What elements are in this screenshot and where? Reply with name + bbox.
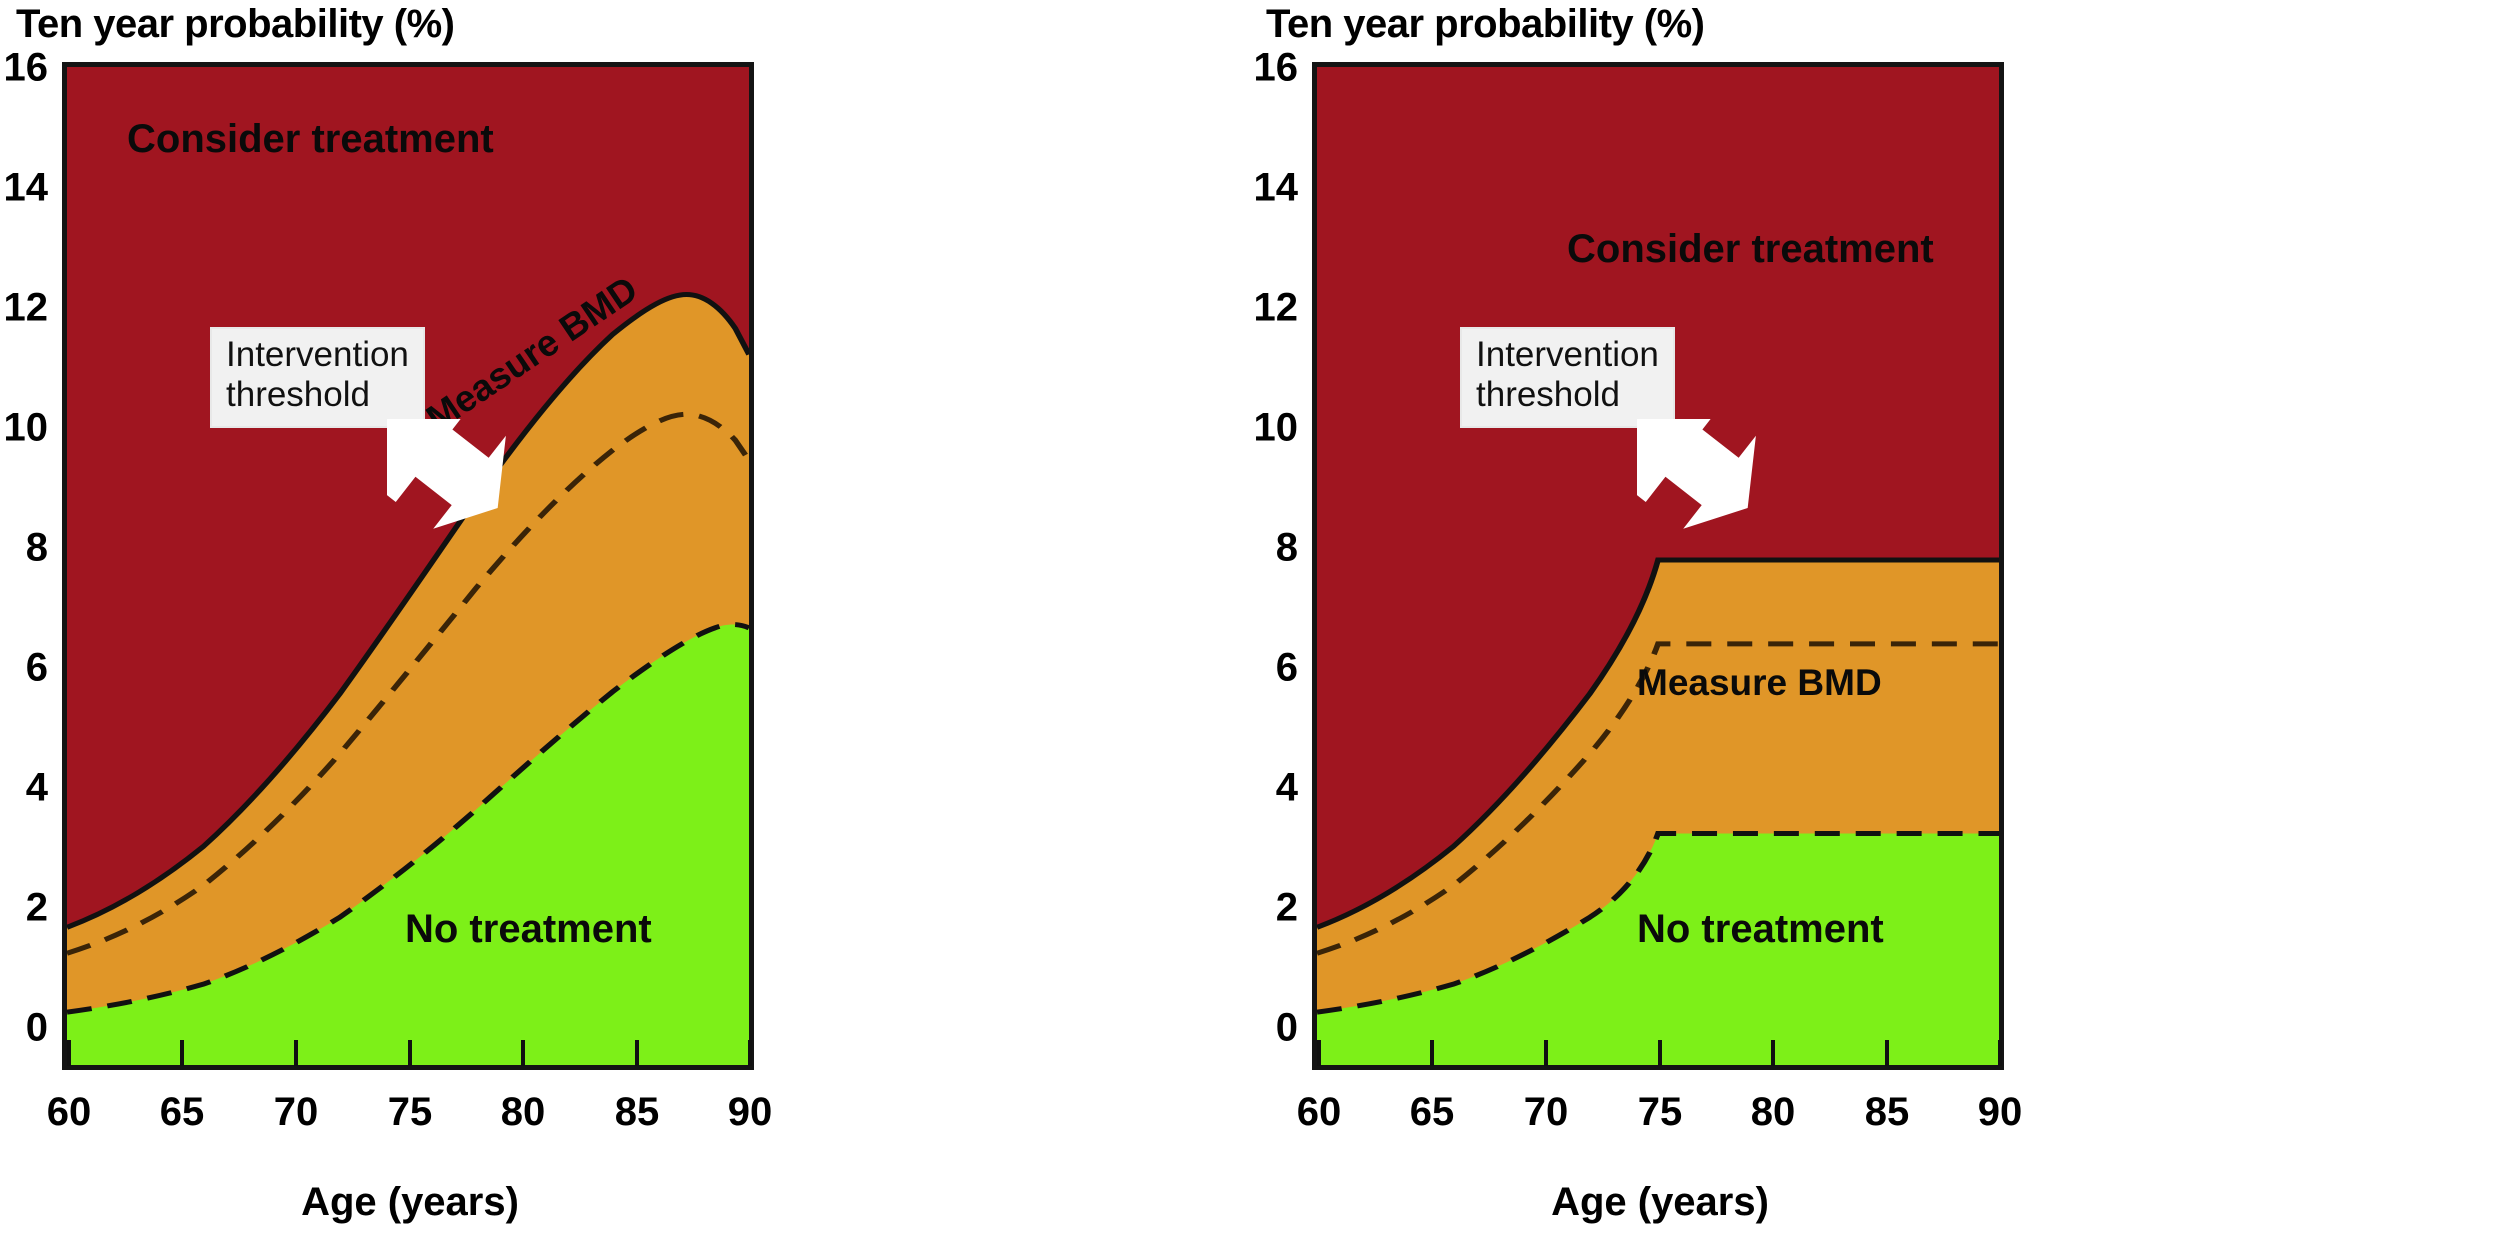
xtick-mark-65 bbox=[1430, 1040, 1434, 1066]
ytick-label-16: 16 bbox=[1250, 46, 1298, 91]
zone-label-no-treatment-left: No treatment bbox=[405, 907, 652, 952]
plot-frame-right: Consider treatment Measure BMD No treatm… bbox=[1312, 62, 2004, 1070]
xtick-label-90: 90 bbox=[728, 1090, 773, 1135]
xtick-label-75: 75 bbox=[388, 1090, 433, 1135]
zone-label-no-treatment-right: No treatment bbox=[1637, 907, 1884, 952]
ytick-label-4: 4 bbox=[0, 766, 48, 811]
plot-area-right: Consider treatment Measure BMD No treatm… bbox=[1312, 62, 2004, 1070]
xtick-mark-75 bbox=[408, 1040, 412, 1066]
callout-line-1: Intervention bbox=[1476, 335, 1659, 375]
xtick-mark-70 bbox=[294, 1040, 298, 1066]
xtick-label-90: 90 bbox=[1978, 1090, 2023, 1135]
xtick-mark-70 bbox=[1544, 1040, 1548, 1066]
xtick-mark-65 bbox=[180, 1040, 184, 1066]
ytick-label-10: 10 bbox=[0, 406, 48, 451]
ytick-label-0: 0 bbox=[0, 1006, 48, 1051]
xtick-label-65: 65 bbox=[1410, 1090, 1455, 1135]
ytick-label-6: 6 bbox=[0, 646, 48, 691]
xtick-label-60: 60 bbox=[47, 1090, 92, 1135]
ytick-label-6: 6 bbox=[1250, 646, 1298, 691]
zone-label-measure-bmd-right: Measure BMD bbox=[1637, 662, 1882, 704]
xtick-mark-80 bbox=[521, 1040, 525, 1066]
xaxis-title-left: Age (years) bbox=[301, 1180, 519, 1225]
xtick-mark-90 bbox=[748, 1040, 752, 1066]
ytick-label-14: 14 bbox=[0, 166, 48, 211]
ytick-label-10: 10 bbox=[1250, 406, 1298, 451]
xtick-mark-85 bbox=[1885, 1040, 1889, 1066]
xaxis-title-right: Age (years) bbox=[1551, 1180, 1769, 1225]
ytick-label-8: 8 bbox=[0, 526, 48, 571]
ytick-label-12: 12 bbox=[0, 286, 48, 331]
ytick-label-2: 2 bbox=[1250, 886, 1298, 931]
figure-two-panel-frax-thresholds: Ten year probability (%) 16 14 12 10 8 6… bbox=[0, 0, 2500, 1249]
xtick-label-65: 65 bbox=[160, 1090, 205, 1135]
xtick-label-80: 80 bbox=[501, 1090, 546, 1135]
chart-title-right: Ten year probability (%) bbox=[1266, 2, 1704, 47]
xtick-mark-60 bbox=[67, 1040, 71, 1066]
xtick-mark-80 bbox=[1771, 1040, 1775, 1066]
xtick-label-85: 85 bbox=[1865, 1090, 1910, 1135]
xtick-mark-90 bbox=[1998, 1040, 2002, 1066]
ytick-label-16: 16 bbox=[0, 46, 48, 91]
chart-title-left: Ten year probability (%) bbox=[16, 2, 454, 47]
xtick-label-85: 85 bbox=[615, 1090, 660, 1135]
xtick-mark-85 bbox=[635, 1040, 639, 1066]
xtick-label-70: 70 bbox=[1524, 1090, 1569, 1135]
xtick-label-70: 70 bbox=[274, 1090, 319, 1135]
plot-area-left: Consider treatment Measure BMD No treatm… bbox=[62, 62, 754, 1070]
ytick-label-2: 2 bbox=[0, 886, 48, 931]
zone-label-consider-treatment-left: Consider treatment bbox=[127, 117, 494, 162]
callout-intervention-threshold-right: Intervention threshold bbox=[1460, 327, 1675, 428]
ytick-label-14: 14 bbox=[1250, 166, 1298, 211]
ytick-label-12: 12 bbox=[1250, 286, 1298, 331]
xtick-label-80: 80 bbox=[1751, 1090, 1796, 1135]
xtick-mark-60 bbox=[1317, 1040, 1321, 1066]
callout-intervention-threshold-left: Intervention threshold bbox=[210, 327, 425, 428]
xtick-label-75: 75 bbox=[1638, 1090, 1683, 1135]
xtick-label-60: 60 bbox=[1297, 1090, 1342, 1135]
callout-line-1: Intervention bbox=[226, 335, 409, 375]
callout-line-2: threshold bbox=[226, 375, 409, 415]
ytick-label-0: 0 bbox=[1250, 1006, 1298, 1051]
ytick-label-8: 8 bbox=[1250, 526, 1298, 571]
panel-left: Ten year probability (%) 16 14 12 10 8 6… bbox=[0, 0, 1250, 1249]
plot-frame-left: Consider treatment Measure BMD No treatm… bbox=[62, 62, 754, 1070]
xtick-mark-75 bbox=[1658, 1040, 1662, 1066]
callout-line-2: threshold bbox=[1476, 375, 1659, 415]
panel-right: Ten year probability (%) 16 14 12 10 8 6… bbox=[1250, 0, 2500, 1249]
zone-label-consider-treatment-right: Consider treatment bbox=[1567, 227, 1934, 272]
ytick-label-4: 4 bbox=[1250, 766, 1298, 811]
